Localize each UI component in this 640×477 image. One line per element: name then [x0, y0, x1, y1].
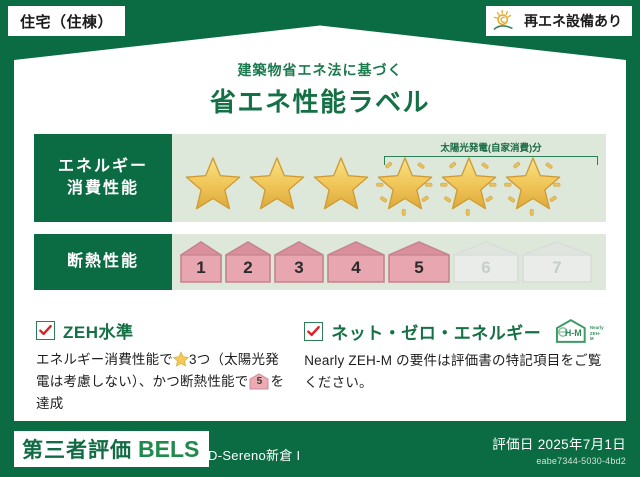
row-insulation-label-text: 断熱性能	[67, 251, 139, 273]
evaluation-date: 評価日 2025年7月1日	[492, 433, 626, 453]
solar-sun-icon	[492, 9, 518, 33]
footer-right-block: 評価日 2025年7月1日 eabe7344-5030-4bd2	[492, 433, 626, 466]
star-icon-solar	[502, 154, 564, 216]
row-energy-label-line2: 消費性能	[67, 178, 139, 200]
note-nze-header: ネット・ゼロ・エネルギー H-M Nearly ZEH-M	[304, 318, 604, 344]
building-name: D-Sereno新倉 I	[208, 445, 300, 464]
insulation-grade-house-3: 3	[274, 241, 324, 283]
checkbox-zeh-standard[interactable]	[36, 321, 55, 340]
svg-text:H-M: H-M	[565, 328, 582, 338]
inline-star-icon	[173, 351, 189, 367]
zeh-m-logo-subtext: Nearly ZEH-M	[590, 325, 604, 344]
checkbox-net-zero-energy[interactable]	[304, 322, 323, 341]
note-zeh-standard: ZEH水準 エネルギー消費性能で3つ（太陽光発電は考慮しない）、かつ断熱性能で5…	[36, 318, 288, 415]
star-icon	[310, 154, 372, 216]
note-zeh-body-part1: エネルギー消費性能で	[36, 352, 173, 367]
star-icon-solar	[438, 154, 500, 216]
title-block: 建築物省エネ法に基づく 省エネ性能ラベル	[14, 60, 626, 119]
insulation-grade-number: 2	[225, 258, 271, 278]
badge-building-type: 住宅（住棟）	[8, 6, 125, 36]
energy-label-root: 建築物省エネ法に基づく 省エネ性能ラベル エネルギー 消費性能 太陽光発電(自家…	[0, 0, 640, 477]
note-zeh-body: エネルギー消費性能で3つ（太陽光発電は考慮しない）、かつ断熱性能で5を達成	[36, 349, 288, 415]
badge-building-type-label: 住宅（住棟）	[20, 11, 113, 32]
notes-section: ZEH水準 エネルギー消費性能で3つ（太陽光発電は考慮しない）、かつ断熱性能で5…	[36, 318, 604, 415]
note-nze-title: ネット・ゼロ・エネルギー	[331, 319, 541, 344]
evaluation-date-label: 評価日	[492, 437, 533, 452]
bels-en-label: BELS	[138, 436, 199, 463]
inline-house-badge-number: 5	[249, 374, 269, 390]
insulation-grade-house-2: 2	[225, 241, 271, 283]
note-net-zero-energy: ネット・ゼロ・エネルギー H-M Nearly ZEH-M	[304, 318, 604, 415]
insulation-grade-house-4: 4	[327, 241, 385, 283]
note-zeh-title: ZEH水準	[63, 318, 134, 343]
insulation-grade-number: 5	[388, 258, 450, 278]
star-icon	[182, 154, 244, 216]
zeh-m-logo: H-M Nearly ZEH-M	[553, 318, 604, 344]
evaluation-date-value: 2025年7月1日	[538, 437, 626, 452]
footer-bar: 第三者評価 BELS D-Sereno新倉 I 評価日 2025年7月1日 ea…	[0, 421, 640, 477]
star-rating	[172, 154, 564, 216]
metric-rows: エネルギー 消費性能 太陽光発電(自家消費)分 断熱性能 12345	[34, 134, 606, 302]
row-energy-label: エネルギー 消費性能	[34, 134, 172, 222]
label-sheet: 建築物省エネ法に基づく 省エネ性能ラベル エネルギー 消費性能 太陽光発電(自家…	[14, 18, 626, 421]
badge-renewable-equipment-label: 再エネ設備あり	[524, 11, 622, 31]
note-zeh-header: ZEH水準	[36, 318, 288, 343]
insulation-grade-house-7: 7	[522, 241, 592, 283]
row-insulation-label: 断熱性能	[34, 234, 172, 290]
insulation-grade-number: 4	[327, 258, 385, 278]
insulation-grade-scale: 1234567	[172, 241, 592, 283]
insulation-grade-house-1: 1	[180, 241, 222, 283]
note-nze-body: Nearly ZEH-M の要件は評価書の特記項目をご覧ください。	[304, 350, 604, 394]
insulation-grade-house-5: 5	[388, 241, 450, 283]
inline-house-badge: 5	[249, 373, 269, 390]
row-energy-body: 太陽光発電(自家消費)分	[172, 134, 606, 222]
insulation-grade-number: 3	[274, 258, 324, 278]
bels-jp-label: 第三者評価	[22, 434, 132, 464]
row-energy-label-line1: エネルギー	[58, 156, 148, 178]
insulation-grade-number: 7	[522, 258, 592, 278]
bels-certification-mark: 第三者評価 BELS	[14, 431, 209, 467]
zeh-m-sub-line2: ZEH-M	[590, 331, 601, 341]
star-icon-solar	[374, 154, 436, 216]
row-insulation-performance: 断熱性能 1234567	[34, 234, 606, 290]
row-energy-performance: エネルギー 消費性能 太陽光発電(自家消費)分	[34, 134, 606, 222]
solar-bracket-caption: 太陽光発電(自家消費)分	[384, 140, 598, 154]
insulation-grade-number: 6	[453, 258, 519, 278]
insulation-grade-number: 1	[180, 258, 222, 278]
title-subtitle: 建築物省エネ法に基づく	[14, 60, 626, 80]
row-insulation-body: 1234567	[172, 234, 606, 290]
insulation-grade-house-6: 6	[453, 241, 519, 283]
badge-renewable-equipment: 再エネ設備あり	[486, 6, 632, 36]
star-icon	[246, 154, 308, 216]
title-main: 省エネ性能ラベル	[14, 82, 626, 119]
evaluation-id: eabe7344-5030-4bd2	[492, 456, 626, 466]
